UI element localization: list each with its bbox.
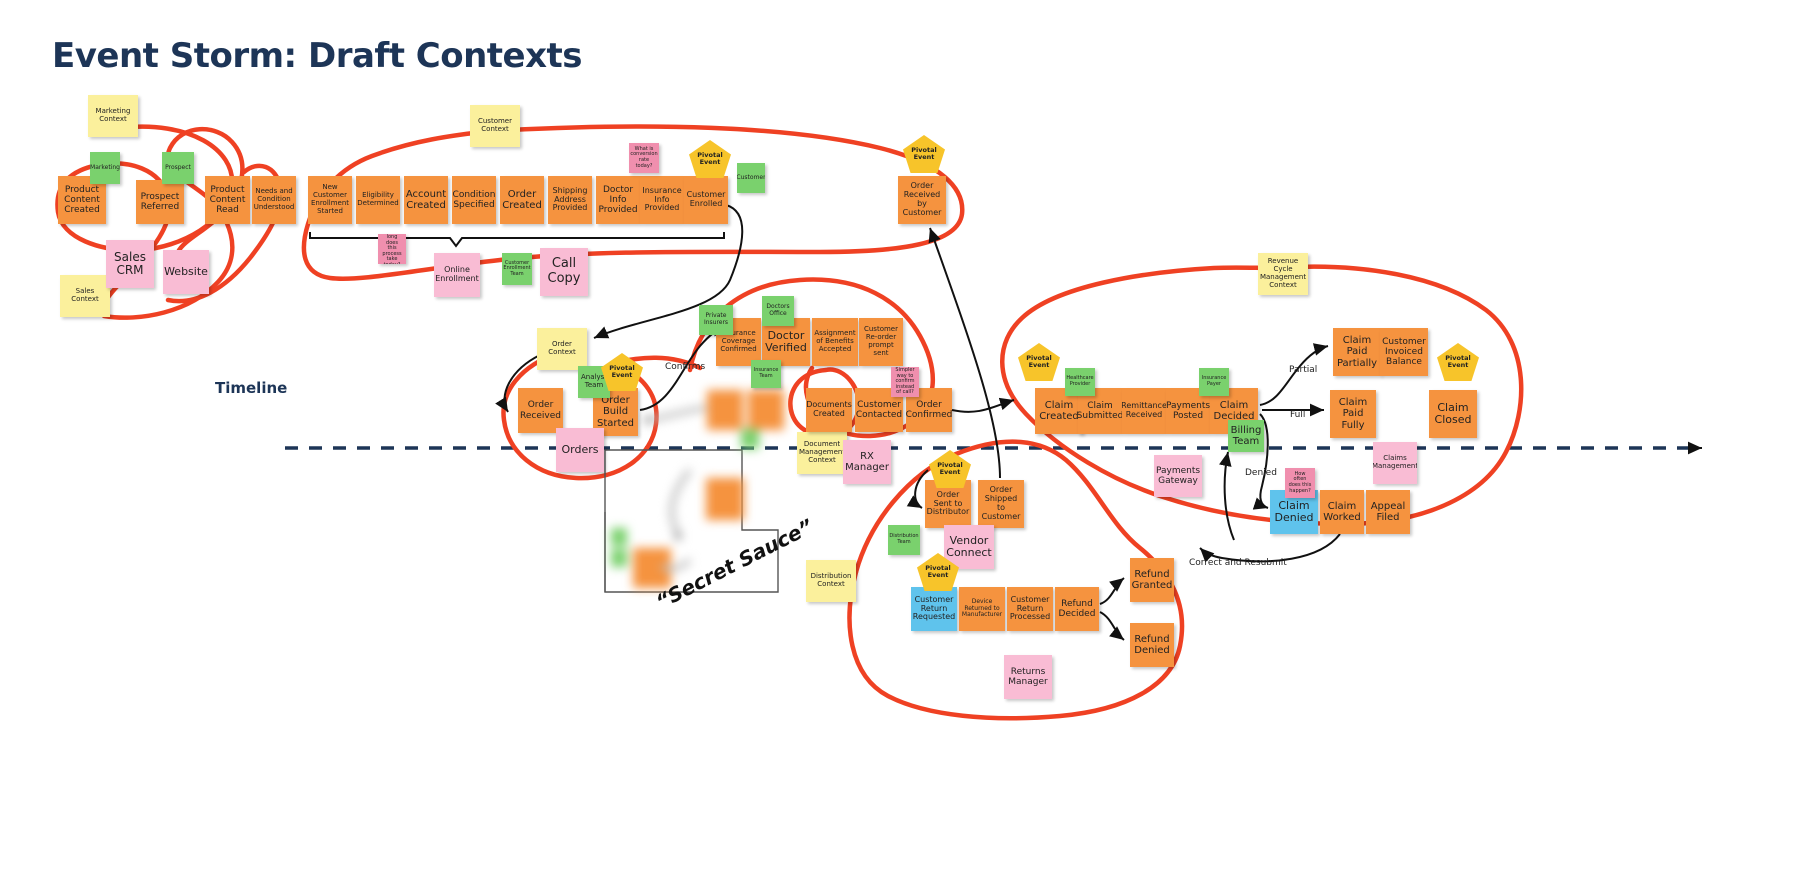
event-note-label: Assignment of Benefits Accepted	[814, 330, 855, 353]
event-note[interactable]: Insurance Info Provided	[640, 176, 684, 224]
system-note[interactable]: Online Enrollment	[434, 253, 480, 297]
event-note[interactable]: Remittance Received	[1122, 388, 1166, 434]
pivotal-event-label: Pivotal Event	[1445, 355, 1470, 369]
system-note[interactable]: Payments Gateway	[1154, 455, 1202, 497]
event-note-label: Refund Denied	[1133, 634, 1171, 656]
actor-note[interactable]: Insurance Payer	[1199, 368, 1229, 396]
event-note[interactable]: Doctor Info Provided	[596, 176, 640, 224]
context-note[interactable]: Distribution Context	[806, 560, 856, 602]
event-note[interactable]: Refund Granted	[1130, 558, 1174, 602]
event-note-label: Claim Paid Partially	[1336, 335, 1378, 369]
edge-label: Correct and Resubmit	[1189, 558, 1287, 568]
actor-note-label: Customer	[737, 175, 765, 182]
system-note[interactable]: Claims Management	[1373, 442, 1417, 484]
event-note-label: Insurance Info Provided	[642, 187, 681, 214]
event-note-label: Doctor Verified	[765, 330, 807, 355]
event-note-label: Remittance Received	[1122, 402, 1166, 420]
event-note-label: Customer Re-order prompt sent	[862, 326, 900, 357]
event-note[interactable]: Needs and Condition Understood	[252, 176, 296, 224]
question-note-label: What is conversion rate today?	[630, 147, 657, 169]
event-note-label: Claim Denied	[1273, 500, 1315, 525]
event-note[interactable]: Prospect Referred	[136, 180, 184, 224]
event-note-label: Claim Decided	[1213, 400, 1255, 422]
actor-note[interactable]: Customer Enrollment Team	[502, 253, 532, 285]
enrollment-brace	[310, 232, 724, 246]
context-note[interactable]: Marketing Context	[88, 95, 138, 137]
actor-note[interactable]: Insurance Team	[751, 360, 781, 388]
event-note[interactable]: Customer Enrolled	[684, 176, 728, 224]
pivotal-event-note[interactable]: Pivotal Event	[1437, 343, 1479, 381]
event-note[interactable]: Account Created	[404, 176, 448, 224]
event-note[interactable]: Customer Return Processed	[1007, 587, 1053, 631]
event-note-label: Customer Return Processed	[1010, 596, 1050, 623]
edge-label: Confirms	[665, 362, 705, 372]
edge-label: Denied	[1245, 468, 1277, 478]
pivotal-event-note[interactable]: Pivotal Event	[903, 135, 945, 173]
event-note-label: Claim Submitted	[1078, 401, 1122, 421]
question-note[interactable]: How long does this process take today?	[378, 234, 406, 264]
actor-note-label: Private Insurers	[702, 313, 730, 326]
event-note[interactable]: Refund Decided	[1055, 587, 1099, 631]
actor-note-label: Customer Enrollment Team	[503, 261, 530, 278]
context-note-label: Document Management Context	[799, 441, 845, 464]
event-note-label: New Customer Enrollment Started	[311, 184, 349, 215]
pivotal-event-note[interactable]: Pivotal Event	[689, 140, 731, 178]
event-note-label: Customer Enrolled	[687, 191, 726, 209]
event-note[interactable]: Assignment of Benefits Accepted	[812, 318, 858, 366]
secret-sauce-frame	[605, 450, 778, 592]
event-note-label: Order Received by Customer	[901, 182, 943, 218]
event-note-label: Condition Specified	[453, 190, 496, 210]
edge-label: Partial	[1289, 365, 1317, 375]
actor-note-label: Distribution Team	[889, 534, 918, 545]
context-note[interactable]: Sales Context	[60, 275, 110, 317]
actor-note-label: Insurance Team	[754, 368, 779, 379]
question-note[interactable]: Simpler way to confirm instead of call?	[891, 367, 919, 397]
system-note-label: Online Enrollment	[435, 266, 479, 284]
question-note-label: Simpler way to confirm instead of call?	[894, 368, 916, 396]
context-note-label: Customer Context	[473, 118, 517, 134]
context-note-label: Distribution Context	[809, 573, 853, 589]
event-note[interactable]: Refund Denied	[1130, 623, 1174, 667]
event-note-label: Customer Contacted	[856, 400, 902, 420]
actor-note[interactable]: Marketing	[90, 152, 120, 184]
event-note-label: Order Build Started	[596, 395, 635, 429]
system-note-label: Claims Management	[1373, 455, 1417, 471]
system-note[interactable]: Sales CRM	[106, 240, 154, 288]
event-note[interactable]: Claim Closed	[1429, 390, 1477, 438]
event-note[interactable]: Customer Re-order prompt sent	[859, 318, 903, 366]
event-note-label: Documents Created	[806, 401, 852, 419]
event-note[interactable]: Documents Created	[806, 388, 852, 432]
pivotal-event-label: Pivotal Event	[1026, 355, 1051, 369]
event-note[interactable]: Customer Return Requested	[911, 587, 957, 631]
event-note-label: Needs and Condition Understood	[254, 188, 295, 211]
event-note-label: Refund Granted	[1132, 569, 1173, 591]
event-note[interactable]: Device Returned to Manufacturer	[959, 587, 1005, 631]
system-note[interactable]: Orders	[556, 428, 604, 472]
pivotal-event-note[interactable]: Pivotal Event	[1018, 343, 1060, 381]
event-storm-board: Event Storm: Draft Contexts	[0, 0, 1800, 873]
arrow-refund-denied	[1100, 612, 1124, 640]
context-note[interactable]: Revenue Cycle Management Context	[1258, 253, 1308, 295]
pivotal-event-label: Pivotal Event	[697, 152, 722, 166]
event-note[interactable]: Customer Invoiced Balance	[1380, 328, 1428, 376]
arrow-refund-granted	[1100, 578, 1124, 604]
event-note[interactable]: Claim Paid Fully	[1330, 390, 1376, 438]
event-note[interactable]: Claim Paid Partially	[1333, 328, 1381, 376]
pivotal-event-label: Pivotal Event	[609, 365, 634, 379]
question-note-label: How often does this happen?	[1288, 472, 1312, 494]
context-note[interactable]: Order Context	[537, 328, 587, 370]
event-note-label: Product Content Read	[208, 185, 247, 215]
event-note-label: Appeal Filed	[1369, 501, 1407, 523]
actor-note[interactable]: Doctors Office	[762, 296, 794, 326]
context-note-label: Marketing Context	[91, 108, 135, 124]
event-note-label: Claim Created	[1038, 400, 1080, 422]
timeline-label: Timeline	[215, 379, 287, 397]
pivotal-event-note[interactable]: Pivotal Event	[929, 450, 971, 488]
actor-note-label: Prospect	[165, 165, 191, 172]
event-note[interactable]: Claim Worked	[1320, 490, 1364, 534]
question-note[interactable]: What is conversion rate today?	[629, 143, 659, 173]
arrow-confirmed-to-claim	[952, 400, 1014, 412]
pivotal-event-label: Pivotal Event	[911, 147, 936, 161]
actor-note[interactable]: Healthcare Provider	[1065, 368, 1095, 396]
context-note-label: Revenue Cycle Management Context	[1260, 258, 1306, 289]
event-note-label: Order Confirmed	[906, 400, 952, 420]
page-title: Event Storm: Draft Contexts	[52, 36, 582, 76]
event-note[interactable]: Order Created	[500, 176, 544, 224]
system-note-label: Vendor Connect	[946, 535, 991, 560]
event-note[interactable]: Order Received by Customer	[898, 176, 946, 224]
system-note[interactable]: Call Copy	[540, 248, 588, 296]
system-note[interactable]: Returns Manager	[1004, 655, 1052, 699]
system-note-label: Website	[164, 266, 208, 278]
actor-note-label: Marketing	[90, 165, 120, 172]
system-note-label: RX Manager	[845, 451, 889, 473]
event-note-label: Product Content Created	[61, 185, 103, 215]
event-note-label: Order Shipped to Customer	[981, 486, 1021, 522]
question-note-label: How long does this process take today?	[381, 234, 403, 264]
event-note-label: Claim Worked	[1323, 501, 1361, 523]
actor-note[interactable]: Distribution Team	[888, 525, 920, 555]
diagram-lines-layer	[0, 0, 1800, 873]
event-note-label: Eligibility Determined	[357, 192, 398, 208]
context-note[interactable]: Customer Context	[470, 105, 520, 147]
event-note[interactable]: Product Content Read	[205, 176, 250, 224]
event-note-label: Claim Closed	[1432, 402, 1474, 427]
event-note-label: Customer Return Requested	[913, 596, 956, 623]
arrow-resubmit-to-billing	[1225, 452, 1234, 540]
system-note[interactable]: RX Manager	[843, 440, 891, 484]
event-note-label: Customer Invoiced Balance	[1382, 337, 1426, 367]
event-note-label: Device Returned to Manufacturer	[962, 599, 1002, 619]
event-note-label: Claim Paid Fully	[1333, 397, 1373, 431]
actor-note[interactable]: Private Insurers	[699, 305, 733, 335]
event-note-label: Payments Posted	[1166, 401, 1210, 421]
event-note-label: Order Sent to Distributor	[927, 491, 970, 518]
event-note[interactable]: Condition Specified	[452, 176, 496, 224]
event-note-label: Order Created	[502, 189, 542, 211]
actor-note-label: Analyst Team	[581, 374, 607, 390]
actor-note[interactable]: Customer	[737, 163, 765, 193]
system-note-label: Orders	[562, 444, 599, 456]
event-note-label: Order Received	[520, 400, 561, 420]
system-note[interactable]: Website	[163, 250, 209, 294]
context-note-label: Sales Context	[63, 288, 107, 304]
actor-note-label: Doctors Office	[765, 304, 791, 317]
actor-note-label: Insurance Payer	[1202, 376, 1227, 387]
pivotal-event-label: Pivotal Event	[925, 565, 950, 579]
actor-note-label: Healthcare Provider	[1066, 376, 1093, 387]
system-note-label: Sales CRM	[109, 251, 151, 278]
event-note-label: Account Created	[406, 189, 446, 211]
system-note-label: Call Copy	[543, 257, 585, 286]
edge-label: Full	[1290, 410, 1305, 420]
arrow-shipped-to-order-received	[930, 228, 1000, 478]
context-note-label: Order Context	[540, 341, 584, 357]
event-note[interactable]: Appeal Filed	[1366, 490, 1410, 534]
event-note[interactable]: New Customer Enrollment Started	[308, 176, 352, 224]
pivotal-event-label: Pivotal Event	[937, 462, 962, 476]
event-note[interactable]: Order Received	[518, 388, 563, 433]
context-note[interactable]: Document Management Context	[797, 432, 847, 474]
question-note[interactable]: How often does this happen?	[1285, 468, 1315, 498]
event-note-label: Refund Decided	[1058, 599, 1096, 619]
event-note[interactable]: Shipping Address Provided	[548, 176, 592, 224]
event-note-label: Doctor Info Provided	[598, 185, 637, 215]
event-note[interactable]: Eligibility Determined	[356, 176, 400, 224]
actor-note-label: Billing Team	[1231, 425, 1262, 447]
secret-sauce-label: “Secret Sauce”	[652, 514, 817, 614]
pivotal-event-note[interactable]: Pivotal Event	[601, 353, 643, 391]
actor-note[interactable]: Billing Team	[1228, 420, 1264, 452]
event-note[interactable]: Order Shipped to Customer	[978, 480, 1024, 528]
actor-note[interactable]: Prospect	[162, 152, 194, 184]
event-note-label: Prospect Referred	[139, 192, 181, 212]
event-note-label: Shipping Address Provided	[551, 187, 589, 214]
system-note-label: Returns Manager	[1007, 667, 1049, 687]
arrow-claim-partial	[1260, 346, 1328, 405]
system-note-label: Payments Gateway	[1156, 466, 1200, 486]
